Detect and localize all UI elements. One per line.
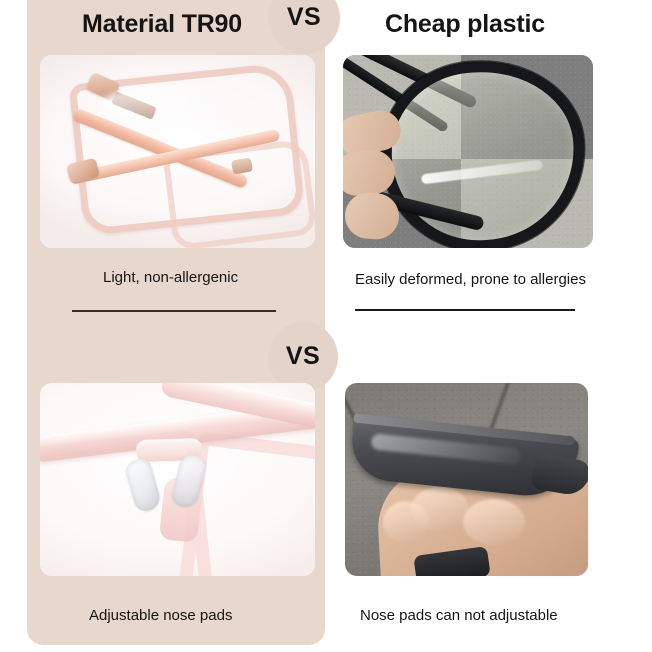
photo-tr90-frame [40, 55, 315, 248]
photo-cheap-plastic-frame-art [343, 55, 593, 248]
photo-fixed-nose-pads [345, 383, 588, 576]
caption-easily-deformed: Easily deformed, prone to allergies [355, 272, 586, 287]
photo-adjustable-nose-pads [40, 383, 315, 576]
hand-knuckle [383, 501, 429, 543]
versus-badge-top-label: VS [287, 5, 321, 30]
hand-knuckle [463, 499, 525, 545]
photo-tr90-frame-art [40, 55, 315, 248]
photo-adjustable-nose-pads-art [40, 383, 315, 576]
caption-light-non-allergenic: Light, non-allergenic [103, 270, 238, 285]
tr90-highlight [100, 85, 240, 125]
left-column-title: Material TR90 [82, 12, 242, 37]
infographic-canvas: Material TR90 Cheap plastic VS VS [0, 0, 652, 652]
caption-adjustable-nose-pads: Adjustable nose pads [89, 608, 232, 623]
versus-badge-middle-label: VS [286, 344, 320, 369]
versus-badge-middle: VS [268, 322, 338, 392]
caption-underline-right-row1 [355, 309, 575, 311]
caption-nose-pads-not-adjustable: Nose pads can not adjustable [360, 608, 558, 623]
right-column-title: Cheap plastic [385, 12, 545, 37]
photo-fixed-nose-pads-art [345, 383, 588, 576]
photo-cheap-plastic-frame [343, 55, 593, 248]
caption-underline-left-row1 [72, 310, 276, 312]
